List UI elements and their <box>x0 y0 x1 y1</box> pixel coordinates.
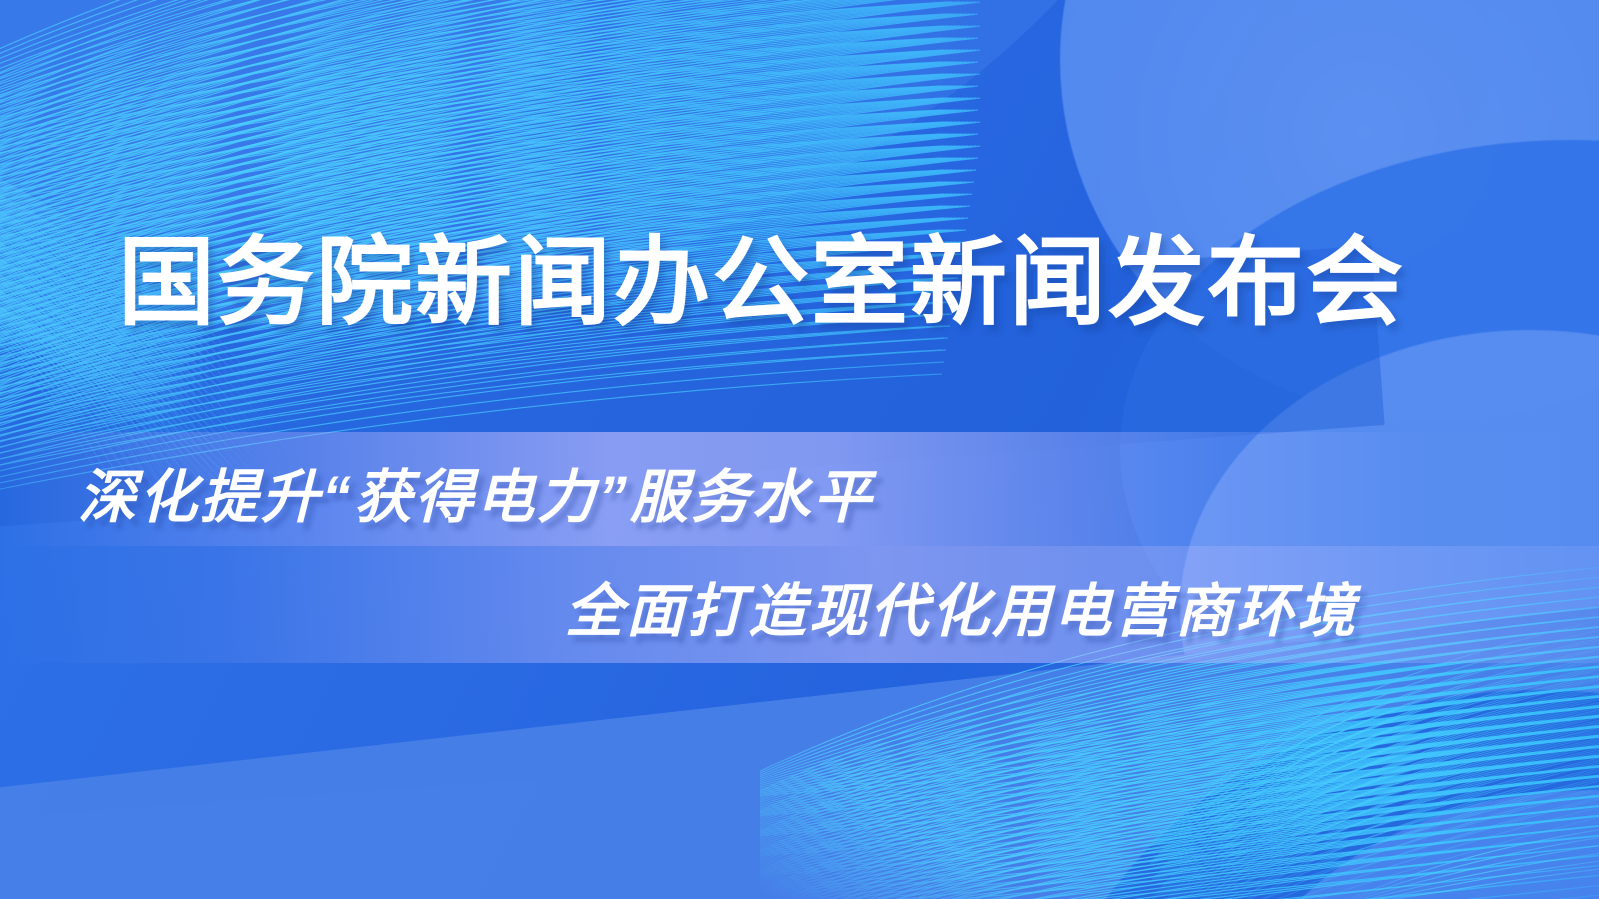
subtitle-line-2: 全面打造现代化用电营商环境 <box>565 564 1358 648</box>
subtitle-line-1: 深化提升“获得电力”服务水平 <box>78 450 874 534</box>
page-title: 国务院新闻办公室新闻发布会 <box>118 232 1405 335</box>
press-conference-banner: 国务院新闻办公室新闻发布会 深化提升“获得电力”服务水平 全面打造现代化用电营商… <box>0 0 1599 899</box>
